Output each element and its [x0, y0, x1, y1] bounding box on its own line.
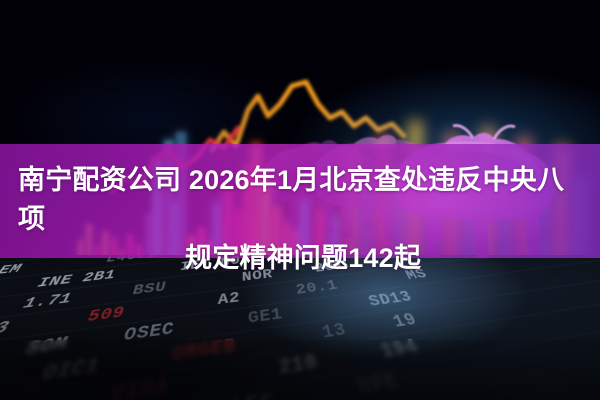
ticker-cell: 13: [320, 320, 348, 343]
ticker-cell: 19: [390, 310, 421, 331]
ticker-cell: UPE: [355, 369, 403, 400]
ticker-cell: GE1: [248, 305, 284, 328]
ticker-cell: SOM: [21, 334, 72, 360]
ticker-cell: A2: [217, 290, 240, 309]
ticker-cell: 20.1: [295, 278, 340, 298]
thumbnail-image: KIT1.14HIQ13509A220.1MS3.0L10M13SOMOSECG…: [0, 0, 600, 400]
headline-text: 南宁配资公司 2026年1月北京查处违反中央八项 规定精神问题142起: [0, 144, 600, 258]
ticker-cell: 258: [0, 396, 21, 400]
headline-line-2: 规定精神问题142起: [18, 239, 582, 278]
headline-line-1: 南宁配资公司 2026年1月北京查处违反中央八项: [18, 161, 582, 239]
ticker-cell: BSU: [130, 279, 167, 298]
ticker-cell: OSEC: [121, 320, 176, 346]
ticker-cell: 194: [378, 336, 423, 363]
ticker-cell: 210: [278, 351, 320, 380]
ticker-cell: SD13: [366, 288, 415, 310]
ticker-cell: 509: [84, 304, 127, 326]
